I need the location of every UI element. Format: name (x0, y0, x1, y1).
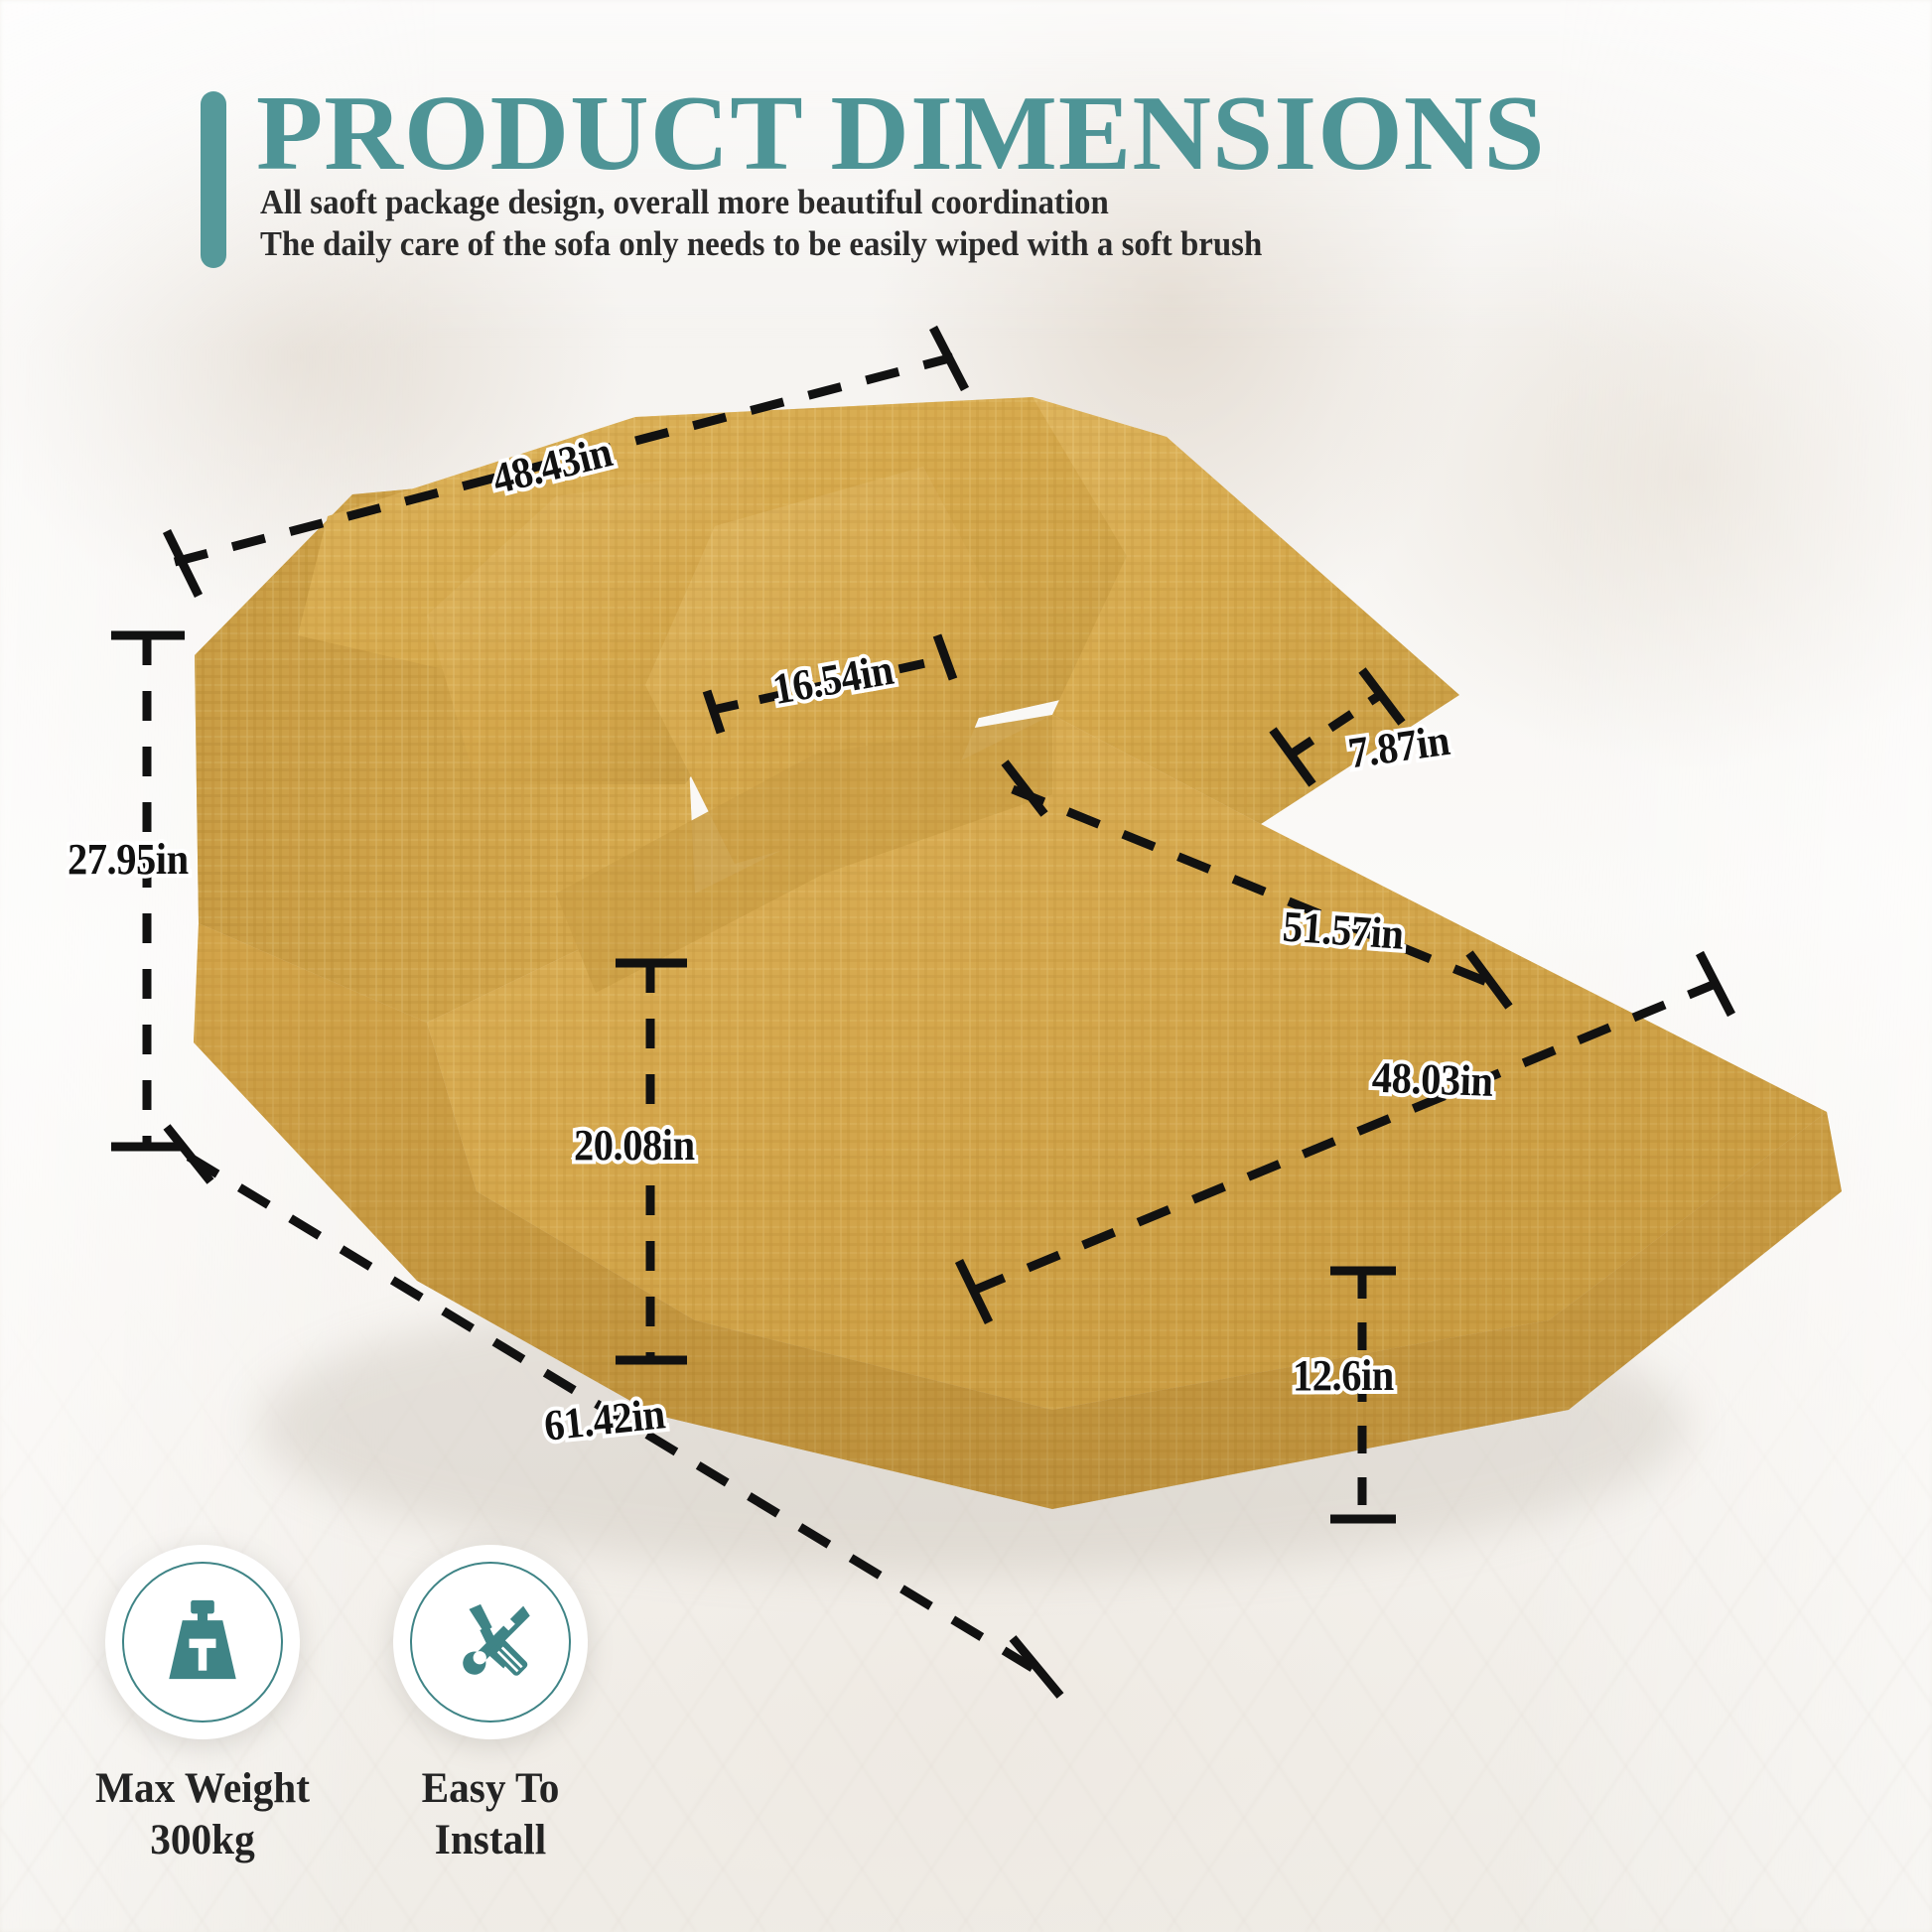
dim-label-48-03: 48.03in 48.03in (1371, 1052, 1504, 1108)
dim-tick-61-42-right (1013, 1638, 1060, 1696)
dim-label-12-6: 12.6in 12.6in (1293, 1350, 1403, 1401)
feature-max-weight-circle (105, 1545, 300, 1739)
dim-label-27-95: 27.95in 27.95in (68, 834, 199, 885)
feature-easy-install-caption: Easy To Install (357, 1763, 624, 1867)
feature-easy-install-line-2: Install (357, 1815, 624, 1866)
feature-max-weight-caption: Max Weight 300kg (69, 1763, 337, 1867)
weight-icon (149, 1588, 256, 1696)
dim-label-20-08: 20.08in 20.08in (574, 1120, 705, 1171)
dim-tick-61-42-left (167, 1127, 210, 1181)
feature-max-weight-line-1: Max Weight (69, 1763, 337, 1815)
feature-easy-install-circle (393, 1545, 588, 1739)
feature-max-weight: Max Weight 300kg (105, 1545, 342, 1867)
tools-icon (438, 1589, 543, 1695)
feature-easy-install-line-1: Easy To (357, 1763, 624, 1815)
dim-tick-48-43-left (167, 531, 199, 596)
feature-easy-install: Easy To Install (393, 1545, 629, 1867)
feature-max-weight-line-2: 300kg (69, 1815, 337, 1866)
dim-label-51-57: 51.57in 51.57in (1281, 900, 1415, 960)
